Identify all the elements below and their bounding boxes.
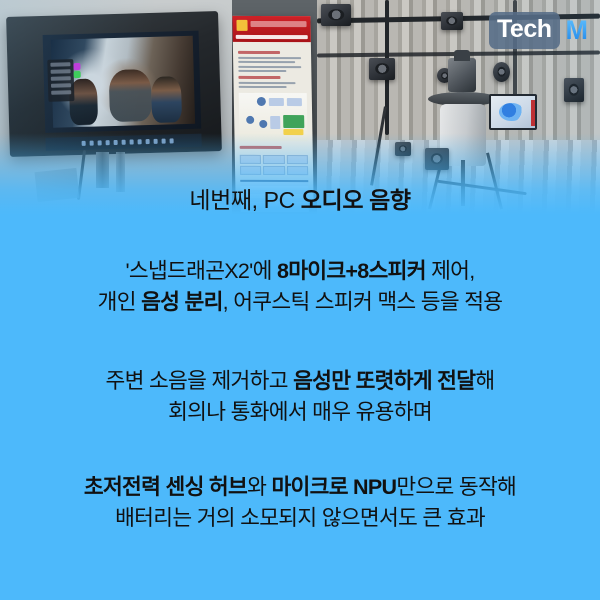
poster-section-heading [238,51,280,54]
poster-org-line [250,21,306,27]
paragraph-power-efficiency: 초저전력 센싱 허브와 마이크로 NPU만으로 동작해배터리는 거의 소모되지 … [14,472,586,535]
test-rig-head [448,58,476,92]
monitor-icon [6,11,222,157]
poster-section-heading [238,76,280,79]
brand-logo[interactable]: Tech M [489,12,588,49]
emphasis-run: 8마이크+8스피커 [277,259,426,283]
text-run: 개인 [98,290,141,314]
chamber-monitor-screen [489,94,537,130]
studio-speaker-icon [425,148,449,170]
paragraph-line: 회의나 통화에서 매우 유용하며 [14,397,586,428]
headline-lead: 네번째, PC [189,187,300,213]
text-run: 해 [475,369,494,393]
emphasis-run: 마이크로 NPU [271,475,396,499]
paragraph-snapdragon: '스냅드래곤X2'에 8마이크+8스피커 제어,개인 음성 분리, 어쿠스틱 스… [14,256,586,319]
paragraph-line: 주변 소음을 제거하고 음성만 또렷하게 전달해 [14,366,586,397]
poster-header [232,16,310,42]
audio-feature-card: Tech M 네번째, PC 오디오 음향 '스냅드래곤X2'에 8마이크+8스… [0,0,600,600]
test-rig-cap [454,50,470,61]
poster-seal-icon [236,20,247,31]
paragraph-line: 배터리는 거의 소모되지 않으면서도 큰 효과 [14,503,586,534]
text-run: 만으로 동작해 [396,475,516,499]
headline-emphasis: 오디오 음향 [301,187,411,213]
windows-taskbar [45,134,201,151]
studio-speaker-icon [395,142,411,156]
poster-board [232,16,313,201]
status-dot-active [74,71,81,78]
text-run: 회의나 통화에서 매우 유용하며 [168,400,432,424]
photo-research-poster [232,0,317,215]
poster-text-line [239,81,296,83]
photo-monitor-video-call [0,0,232,215]
text-run: 와 [247,475,271,499]
monitor-screen [43,31,202,133]
text-run: 제어, [426,259,475,283]
emphasis-run: 초저전력 센싱 허브 [84,475,247,499]
monitor-stand-neck [96,152,109,188]
studio-speaker-icon [564,78,584,102]
status-dot-recording [73,63,80,70]
call-participant-right [151,77,182,124]
call-participant-center [108,69,152,123]
text-run: 주변 소음을 제거하고 [106,369,294,393]
brand-logo-badge: Tech [489,12,560,49]
studio-speaker-icon [369,58,395,80]
poster-section-heading [240,146,282,149]
paragraph-line: 초저전력 센싱 허브와 마이크로 NPU만으로 동작해 [14,472,586,503]
text-run: 배터리는 거의 소모되지 않으면서도 큰 효과 [115,506,485,530]
studio-speaker-icon [321,4,351,26]
emphasis-run: 음성만 또렷하게 전달 [293,369,475,393]
paragraph-line: 개인 음성 분리, 어쿠스틱 스피커 맥스 등을 적용 [14,287,586,318]
poster-feature-grid [240,155,308,175]
text-run: , 어쿠스틱 스피커 맥스 등을 적용 [223,290,503,314]
poster-title-line [236,35,308,39]
emphasis-run: 음성 분리 [141,290,223,314]
studio-speaker-icon [493,62,510,82]
video-call-sidebar [47,60,74,102]
poster-text-line [238,70,286,72]
poster-text-line [239,86,287,88]
text-run: '스냅드래곤X2'에 [125,259,276,283]
poster-text-line [238,65,301,67]
studio-speaker-icon [441,12,463,30]
poster-text-line [238,56,301,58]
poster-text-line [238,61,295,63]
brand-logo-mark: M [566,17,589,44]
paragraph-noise-removal: 주변 소음을 제거하고 음성만 또렷하게 전달해회의나 통화에서 매우 유용하며 [14,366,586,429]
paragraph-line: '스냅드래곤X2'에 8마이크+8스피커 제어, [14,256,586,287]
page-title: 네번째, PC 오디오 음향 [0,186,600,215]
poster-diagram [239,93,308,141]
equipment-indicator [531,100,535,126]
